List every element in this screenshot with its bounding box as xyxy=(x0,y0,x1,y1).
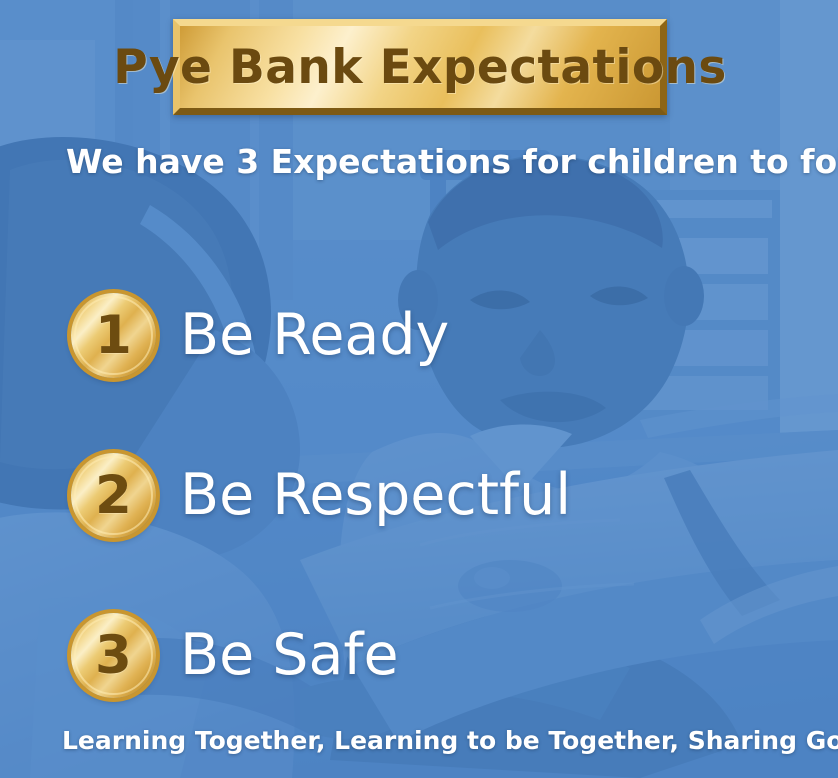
title-banner: Pye Bank Expectations xyxy=(173,19,667,115)
expectation-item-3: 3 Be Safe xyxy=(0,575,838,735)
school-motto: Learning Together, Learning to be Togeth… xyxy=(62,726,802,755)
coin-number-1: 1 xyxy=(95,309,132,362)
number-coin-1-icon: 1 xyxy=(71,293,156,378)
expectation-label-3: Be Safe xyxy=(180,622,399,688)
page-title: Pye Bank Expectations xyxy=(113,40,727,95)
expectation-label-1: Be Ready xyxy=(180,302,449,368)
number-coin-3-icon: 3 xyxy=(71,613,156,698)
expectations-list: 1 Be Ready 2 Be Respectful 3 Be Safe xyxy=(0,255,838,735)
coin-number-2: 2 xyxy=(95,469,132,522)
number-coin-2-icon: 2 xyxy=(71,453,156,538)
expectation-item-2: 2 Be Respectful xyxy=(0,415,838,575)
expectation-item-1: 1 Be Ready xyxy=(0,255,838,415)
coin-number-3: 3 xyxy=(95,629,132,682)
expectation-label-2: Be Respectful xyxy=(180,462,571,528)
expectations-slide: Pye Bank Expectations We have 3 Expectat… xyxy=(0,0,838,778)
subtitle: We have 3 Expectations for children to f… xyxy=(66,142,786,181)
